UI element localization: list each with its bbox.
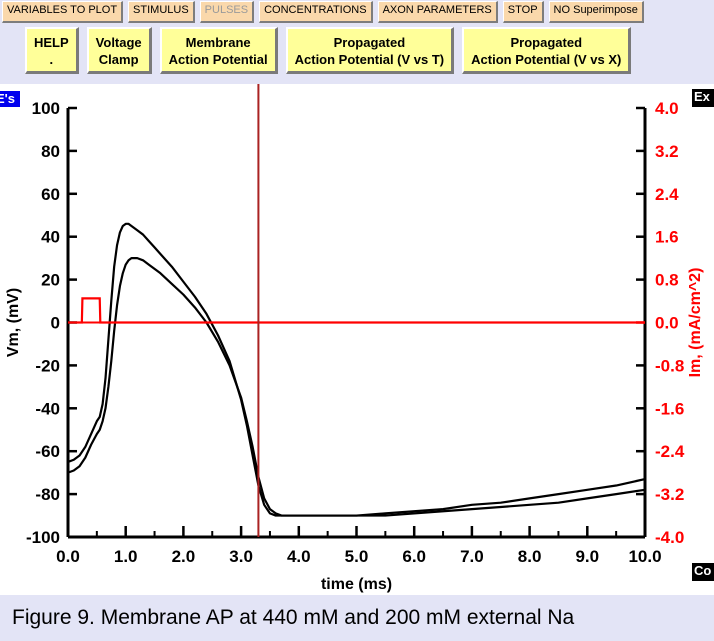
propagated-ap-v-vs-t-button[interactable]: Propagated Action Potential (V vs T) xyxy=(286,27,455,74)
left-axis-tick-label: 100 xyxy=(32,99,60,118)
voltage-clamp-button[interactable]: Voltage Clamp xyxy=(87,27,152,74)
bottom-right-badge[interactable]: Co xyxy=(692,563,714,581)
y-axis-left-label: Vm, (mV) xyxy=(5,288,22,357)
left-axis-tick-label: -60 xyxy=(35,442,60,461)
left-axis-tick-label: -40 xyxy=(35,399,60,418)
x-axis-tick-label: 7.0 xyxy=(460,547,484,566)
right-axis-tick-label: -1.6 xyxy=(655,399,684,418)
left-axis-tick-label: -100 xyxy=(26,528,60,547)
left-axis-tick-label: 0 xyxy=(51,314,60,333)
right-axis-tick-label: 0.8 xyxy=(655,271,679,290)
x-axis-tick-label: 9.0 xyxy=(575,547,599,566)
left-axis-tick-label: 20 xyxy=(41,271,60,290)
left-edge-badge[interactable]: E's xyxy=(0,91,20,107)
x-axis-tick-label: 10.0 xyxy=(628,547,661,566)
membrane-action-potential-chart: 100806040200-20-40-60-80-1004.03.22.41.6… xyxy=(0,84,714,595)
membrane-ap-line2: Action Potential xyxy=(169,51,268,68)
menu-item-concentrations[interactable]: CONCENTRATIONS xyxy=(259,1,372,23)
right-axis-tick-label: -4.0 xyxy=(655,528,684,547)
figure-caption: Figure 9. Membrane AP at 440 mM and 200 … xyxy=(12,606,574,630)
x-axis-tick-label: 4.0 xyxy=(287,547,311,566)
right-axis-tick-label: 0.0 xyxy=(655,314,679,333)
y-axis-right-label: Im, (mA/cm^2) xyxy=(687,268,704,378)
plot-panel: 100806040200-20-40-60-80-1004.03.22.41.6… xyxy=(0,84,714,595)
menu-item-variables-to-plot[interactable]: VARIABLES TO PLOT xyxy=(2,1,123,23)
menu-item-stimulus[interactable]: STIMULUS xyxy=(128,1,195,23)
left-axis-tick-label: 60 xyxy=(41,185,60,204)
propagated-vx-line1: Propagated xyxy=(471,34,621,51)
x-axis-tick-label: 6.0 xyxy=(402,547,426,566)
left-axis-tick-label: 80 xyxy=(41,142,60,161)
help-button-line1: HELP xyxy=(34,34,69,51)
membrane-ap-line1: Membrane xyxy=(169,34,268,51)
x-axis-label: time (ms) xyxy=(321,576,392,593)
right-axis-tick-label: -2.4 xyxy=(655,442,685,461)
left-axis-tick-label: -20 xyxy=(35,356,60,375)
right-axis-tick-label: 2.4 xyxy=(655,185,679,204)
menu-item-axon-parameters[interactable]: AXON PARAMETERS xyxy=(378,1,498,23)
x-axis-tick-label: 1.0 xyxy=(114,547,138,566)
right-axis-tick-label: 3.2 xyxy=(655,142,679,161)
membrane-action-potential-button[interactable]: Membrane Action Potential xyxy=(160,27,278,74)
left-axis-tick-label: 40 xyxy=(41,228,60,247)
voltage-clamp-line2: Clamp xyxy=(96,51,142,68)
figure-caption-bar: Figure 9. Membrane AP at 440 mM and 200 … xyxy=(0,595,714,641)
top-menu-bar: VARIABLES TO PLOT STIMULUS PULSES CONCEN… xyxy=(0,0,714,22)
help-button[interactable]: HELP . xyxy=(25,27,79,74)
left-axis-tick-label: -80 xyxy=(35,485,60,504)
right-axis-tick-label: 1.6 xyxy=(655,228,679,247)
propagated-vt-line1: Propagated xyxy=(295,34,445,51)
menu-item-pulses: PULSES xyxy=(200,1,254,23)
menu-item-no-superimpose[interactable]: NO Superimpose xyxy=(549,1,644,23)
x-axis-tick-label: 2.0 xyxy=(172,547,196,566)
right-axis-tick-label: -0.8 xyxy=(655,356,684,375)
propagated-vx-line2: Action Potential (V vs X) xyxy=(471,51,621,68)
help-button-line2: . xyxy=(34,51,69,68)
x-axis-tick-label: 3.0 xyxy=(229,547,253,566)
mode-button-row: HELP . Voltage Clamp Membrane Action Pot… xyxy=(0,27,714,81)
right-axis-tick-label: -3.2 xyxy=(655,485,684,504)
x-axis-tick-label: 0.0 xyxy=(56,547,80,566)
voltage-clamp-line1: Voltage xyxy=(96,34,142,51)
x-axis-tick-label: 5.0 xyxy=(345,547,369,566)
propagated-ap-v-vs-x-button[interactable]: Propagated Action Potential (V vs X) xyxy=(462,27,631,74)
x-axis-tick-label: 8.0 xyxy=(518,547,542,566)
propagated-vt-line2: Action Potential (V vs T) xyxy=(295,51,445,68)
right-axis-tick-label: 4.0 xyxy=(655,99,679,118)
menu-item-stop[interactable]: STOP xyxy=(503,1,544,23)
top-right-badge[interactable]: Ex xyxy=(692,89,714,107)
